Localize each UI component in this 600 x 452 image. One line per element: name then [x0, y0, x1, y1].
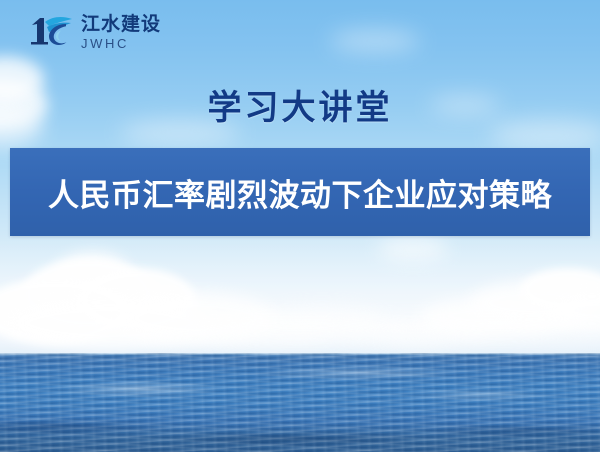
sea-background	[0, 353, 600, 452]
sea-glint-layer	[0, 353, 600, 452]
topic-banner: 人民币汇率剧烈波动下企业应对策略	[10, 148, 590, 236]
page-title: 学习大讲堂	[0, 80, 600, 129]
brand-logo: 江水建设 JWHC	[28, 13, 161, 52]
topic-banner-title: 人民币汇率剧烈波动下企业应对策略	[48, 170, 552, 215]
brand-name-cn: 江水建设	[81, 15, 161, 34]
cloud-wisp-upper-right	[330, 30, 420, 52]
poster-root: 江水建设 JWHC 学习大讲堂 人民币汇率剧烈波动下企业应对策略	[0, 0, 600, 452]
jwhc-logo-mark-icon	[28, 13, 74, 52]
brand-logo-wordmark: 江水建设 JWHC	[81, 15, 161, 50]
brand-name-en: JWHC	[81, 37, 161, 50]
